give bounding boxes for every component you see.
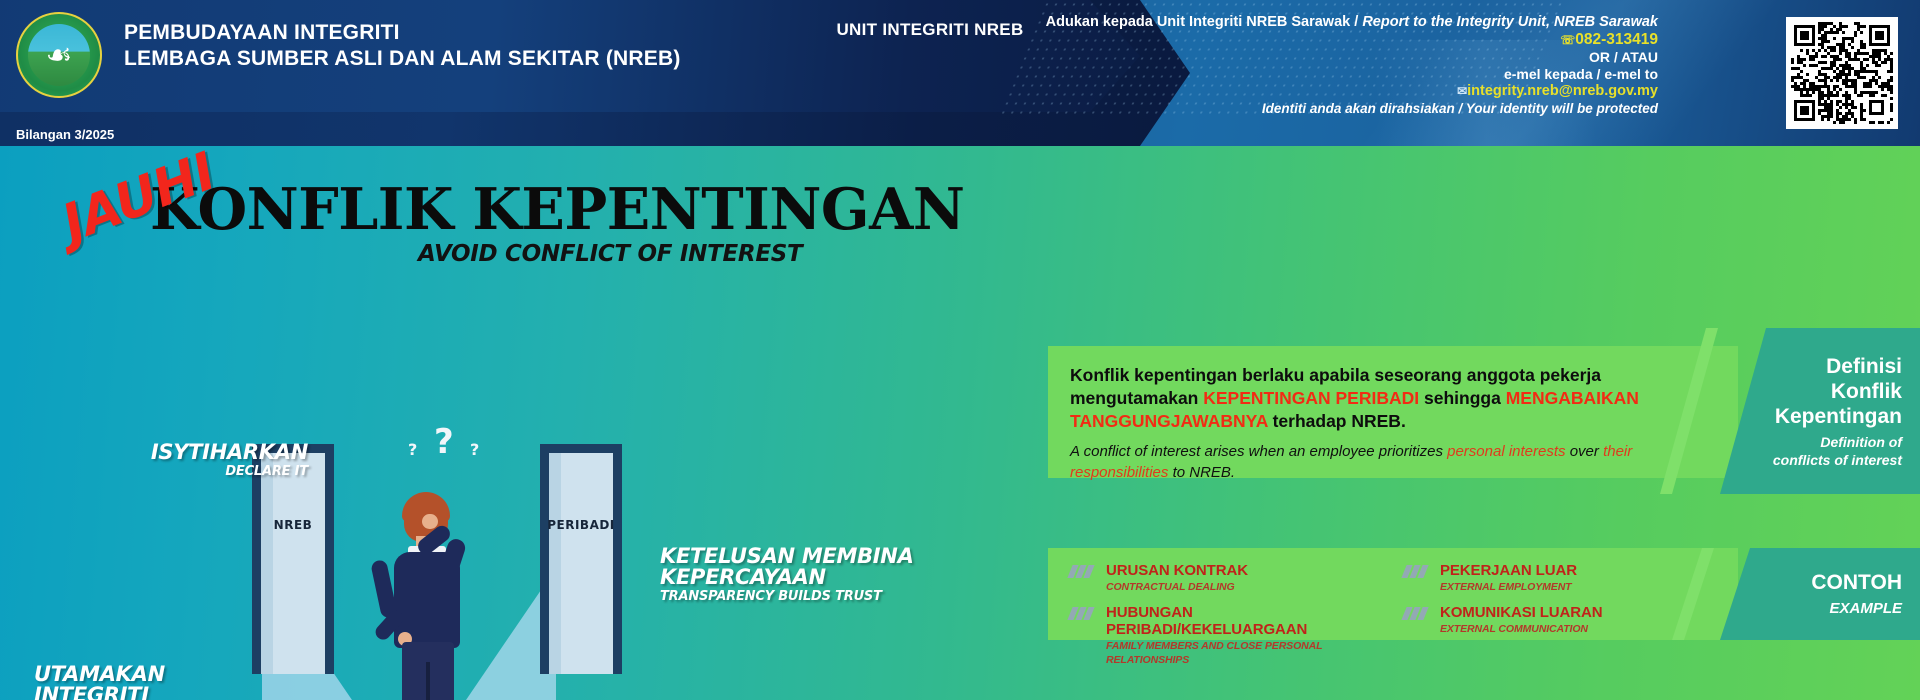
contact-report-ms: Adukan kepada Unit Integriti NREB Sarawa… <box>1046 14 1351 30</box>
definition-ms-3: terhadap NREB. <box>1273 411 1406 431</box>
example-ms: PEKERJAAN LUAR <box>1440 562 1722 579</box>
header-org-title: PEMBUDAYAAN INTEGRITI LEMBAGA SUMBER ASL… <box>124 20 681 72</box>
definition-ms-2: sehingga <box>1424 388 1501 408</box>
question-mark-small-right: ? <box>470 440 479 459</box>
callout-declare: ISYTIHARKAN DECLARE IT <box>108 442 308 478</box>
man-leg-split <box>426 662 430 700</box>
tab-definition[interactable]: Definisi Konflik Kepentingan Definition … <box>1720 328 1920 494</box>
callout-transparency-en: TRANSPARENCY BUILDS TRUST <box>660 590 920 603</box>
contact-phone[interactable]: 082-313419 <box>1575 31 1658 48</box>
envelope-icon: ✉ <box>1457 84 1467 98</box>
contact-privacy-note: Identiti anda akan dirahsiakan / Your id… <box>958 100 1658 117</box>
callout-declare-ms: ISYTIHARKAN <box>108 442 308 463</box>
chevron-bullet-icon <box>1070 565 1098 578</box>
contact-or: OR / ATAU <box>958 49 1658 66</box>
contact-report-line: Adukan kepada Unit Integriti NREB Sarawa… <box>958 14 1658 31</box>
callout-integrity-first: UTAMAKAN INTEGRITI INTEGRITY FIRST <box>34 664 264 700</box>
definition-text: Konflik kepentingan berlaku apabila sese… <box>1070 364 1714 483</box>
question-mark-small-left: ? <box>408 440 417 459</box>
example-en: CONTRACTUAL DEALING <box>1106 580 1388 594</box>
chevron-bullet-icon <box>1070 607 1098 620</box>
chevron-bullet-icon <box>1404 565 1432 578</box>
definition-en: A conflict of interest arises when an em… <box>1070 441 1714 483</box>
callout-transparency-ms: KETELUSAN MEMBINA KEPERCAYAAN <box>660 546 920 588</box>
callout-declare-en: DECLARE IT <box>108 465 308 478</box>
contact-phone-row[interactable]: ☏082-313419 <box>958 31 1658 49</box>
contact-report-sep: / <box>1354 14 1358 30</box>
definition-panel: Konflik kepentingan berlaku apabila sese… <box>1048 346 1738 478</box>
definition-en-hl-1: personal interests <box>1447 443 1565 460</box>
contact-email[interactable]: integrity.nreb@nreb.gov.my <box>1467 83 1658 99</box>
example-item: KOMUNIKASI LUARAN EXTERNAL COMMUNICATION <box>1404 604 1722 636</box>
question-marks-icon: ? ? ? <box>398 422 494 472</box>
examples-column-left: URUSAN KONTRAK CONTRACTUAL DEALING HUBUN… <box>1070 562 1388 677</box>
contact-block: Adukan kepada Unit Integriti NREB Sarawa… <box>958 14 1658 117</box>
example-item: HUBUNGAN PERIBADI/KEKELUARGAAN FAMILY ME… <box>1070 604 1388 667</box>
page-subtitle: AVOID CONFLICT OF INTEREST <box>418 241 802 267</box>
tab-definition-ms: Definisi Konflik Kepentingan <box>1772 354 1902 429</box>
question-mark-large: ? <box>434 422 454 462</box>
chevron-bullet-icon <box>1404 607 1432 620</box>
contact-email-label: e-mel kepada / e-mel to <box>958 66 1658 83</box>
header-org-line1: PEMBUDAYAAN INTEGRITI <box>124 20 681 46</box>
tab-examples-ms: CONTOH <box>1772 570 1902 595</box>
man-hand-raised <box>422 514 438 529</box>
door-panel-shadow <box>549 453 561 674</box>
door-peribadi: PERIBADI <box>540 444 622 674</box>
logo-hand-icon: ☙ <box>43 36 75 76</box>
examples-panel: URUSAN KONTRAK CONTRACTUAL DEALING HUBUN… <box>1048 548 1738 640</box>
phone-icon: ☏ <box>1560 33 1575 47</box>
definition-en-1: A conflict of interest arises when an em… <box>1070 443 1443 460</box>
example-en: EXTERNAL EMPLOYMENT <box>1440 580 1722 594</box>
page-title: KONFLIK KEPENTINGAN <box>150 176 964 243</box>
infographic-body: JAUHI KONFLIK KEPENTINGAN AVOID CONFLICT… <box>0 146 1920 700</box>
qr-code-icon[interactable] <box>1786 17 1898 129</box>
door-panel-shadow <box>261 453 273 674</box>
callout-transparency: KETELUSAN MEMBINA KEPERCAYAAN TRANSPAREN… <box>660 546 920 603</box>
tab-examples-en: EXAMPLE <box>1772 599 1902 618</box>
definition-en-3: to NREB. <box>1173 464 1236 481</box>
example-en: FAMILY MEMBERS AND CLOSE PERSONAL RELATI… <box>1106 639 1388 667</box>
businessman-illustration <box>368 482 488 700</box>
definition-ms-hl-1: KEPENTINGAN PERIBADI <box>1203 388 1419 408</box>
page-header: ☙ PEMBUDAYAAN INTEGRITI LEMBAGA SUMBER A… <box>0 0 1920 146</box>
example-ms: HUBUNGAN PERIBADI/KEKELUARGAAN <box>1106 604 1388 638</box>
callout-integrity-first-ms: UTAMAKAN INTEGRITI <box>34 664 264 700</box>
example-item: URUSAN KONTRAK CONTRACTUAL DEALING <box>1070 562 1388 594</box>
issue-number: Bilangan 3/2025 <box>16 127 114 142</box>
example-ms: URUSAN KONTRAK <box>1106 562 1388 579</box>
tab-examples[interactable]: CONTOH EXAMPLE <box>1720 548 1920 640</box>
definition-ms: Konflik kepentingan berlaku apabila sese… <box>1070 364 1714 433</box>
door-label-peribadi: PERIBADI <box>540 518 622 532</box>
contact-report-en: Report to the Integrity Unit, NREB Saraw… <box>1362 14 1658 30</box>
door-label-nreb: NREB <box>252 518 334 532</box>
definition-en-2: over <box>1570 443 1599 460</box>
header-org-line2: LEMBAGA SUMBER ASLI DAN ALAM SEKITAR (NR… <box>124 46 681 72</box>
tab-definition-en: Definition of conflicts of interest <box>1772 433 1902 469</box>
example-item: PEKERJAAN LUAR EXTERNAL EMPLOYMENT <box>1404 562 1722 594</box>
hero-illustration: JAUHI KONFLIK KEPENTINGAN AVOID CONFLICT… <box>0 146 1030 700</box>
contact-email-row[interactable]: ✉integrity.nreb@nreb.gov.my <box>958 83 1658 100</box>
nreb-logo-icon: ☙ <box>16 12 102 98</box>
